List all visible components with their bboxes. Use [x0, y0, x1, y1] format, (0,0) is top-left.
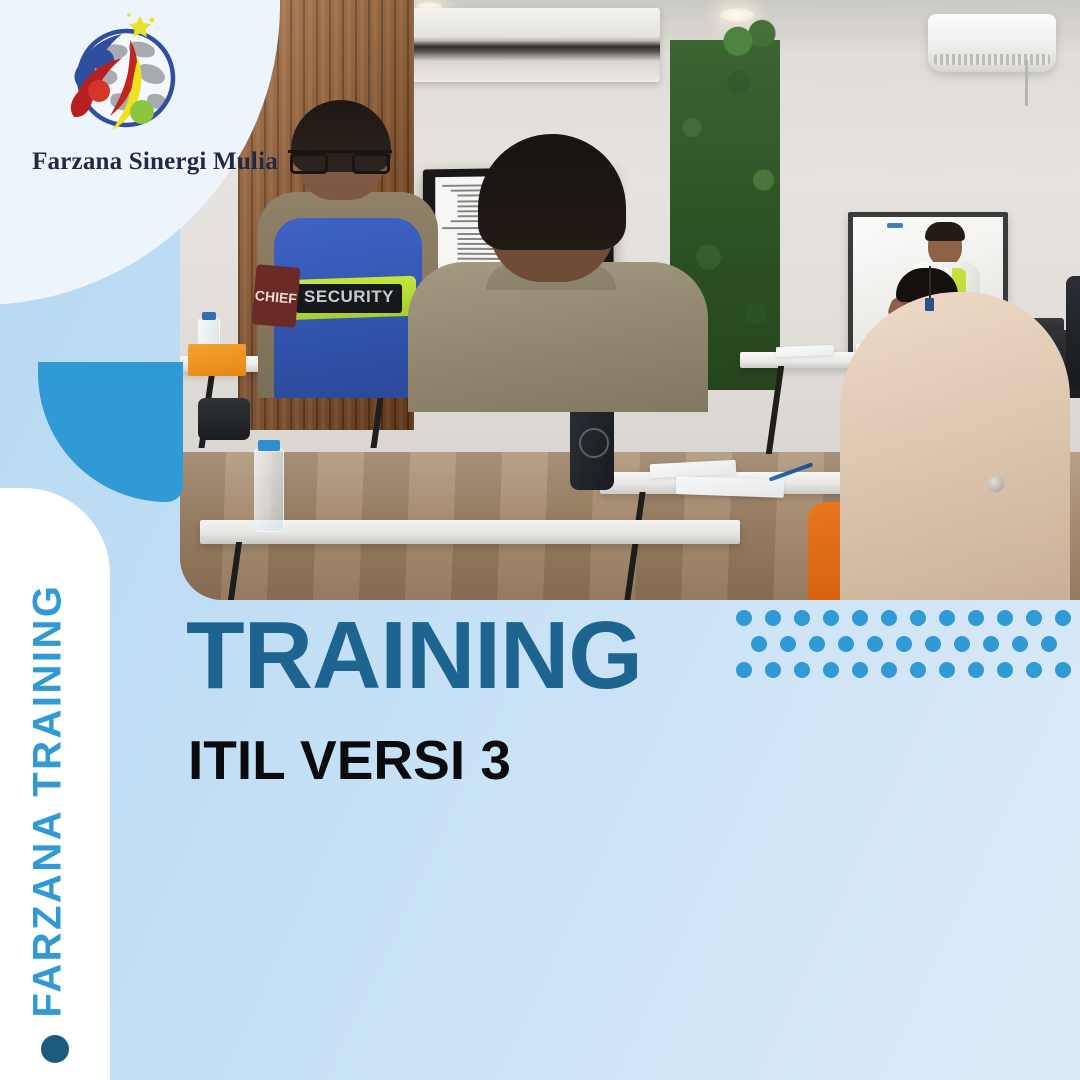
decorative-dot-grid — [736, 610, 1080, 678]
decor-dot — [925, 636, 941, 652]
glasses-icon — [288, 150, 392, 166]
decor-dot — [881, 662, 897, 678]
ac-cord — [1025, 60, 1028, 106]
decor-dot — [751, 636, 767, 652]
company-name: Farzana Sinergi Mulia — [10, 148, 300, 176]
bottle-cap — [202, 312, 216, 320]
decor-dot — [736, 662, 752, 678]
decor-dot — [765, 662, 781, 678]
water-bottle — [254, 448, 284, 532]
decor-dot — [968, 610, 984, 626]
handout-paper — [676, 476, 785, 498]
decor-dot — [939, 662, 955, 678]
poster-canvas: SECURITY CHIEF — [0, 0, 1080, 1080]
decor-dot — [809, 636, 825, 652]
decor-dot — [867, 636, 883, 652]
decor-dot — [1055, 662, 1071, 678]
decor-dot — [1055, 610, 1071, 626]
decor-dot — [1012, 636, 1028, 652]
decor-dot — [852, 662, 868, 678]
chief-patch-text: CHIEF — [251, 264, 300, 328]
page-subtitle: ITIL VERSI 3 — [188, 733, 511, 788]
decor-dot — [823, 610, 839, 626]
blue-quarter-shape — [38, 362, 183, 502]
decor-dot — [838, 636, 854, 652]
handout-paper — [776, 345, 834, 357]
decor-dot — [997, 610, 1013, 626]
drink-carton — [188, 344, 246, 376]
decor-dot — [1026, 662, 1042, 678]
decor-dot — [954, 636, 970, 652]
decor-dot — [794, 610, 810, 626]
chair — [198, 398, 250, 440]
plant-icon — [720, 10, 780, 62]
decor-dot — [852, 610, 868, 626]
decor-dot — [794, 662, 810, 678]
security-vest-text: SECURITY — [296, 287, 402, 307]
side-vertical-label: FARZANA TRAINING — [26, 598, 71, 1018]
decor-dot — [910, 662, 926, 678]
person-participant-hijab — [840, 258, 1070, 600]
decor-dot — [910, 610, 926, 626]
brand-logo[interactable]: Farzana Sinergi Mulia — [60, 12, 250, 182]
decor-dot — [896, 636, 912, 652]
decor-dot — [968, 662, 984, 678]
bottle-cap — [258, 440, 280, 451]
person-participant-khaki — [408, 144, 708, 404]
training-photo: SECURITY CHIEF — [180, 0, 1080, 600]
decor-dot — [823, 662, 839, 678]
globe-people-logo-icon — [60, 12, 190, 142]
decor-dot — [736, 610, 752, 626]
decor-dot — [765, 610, 781, 626]
decor-dot — [881, 610, 897, 626]
decor-dot — [1026, 610, 1042, 626]
decor-dot — [939, 610, 955, 626]
decor-dot — [1041, 636, 1057, 652]
decor-dot — [997, 662, 1013, 678]
air-conditioner — [928, 14, 1056, 72]
decor-dot — [780, 636, 796, 652]
page-title: TRAINING — [186, 608, 642, 704]
bullet-dot — [41, 1035, 69, 1063]
decor-dot — [983, 636, 999, 652]
